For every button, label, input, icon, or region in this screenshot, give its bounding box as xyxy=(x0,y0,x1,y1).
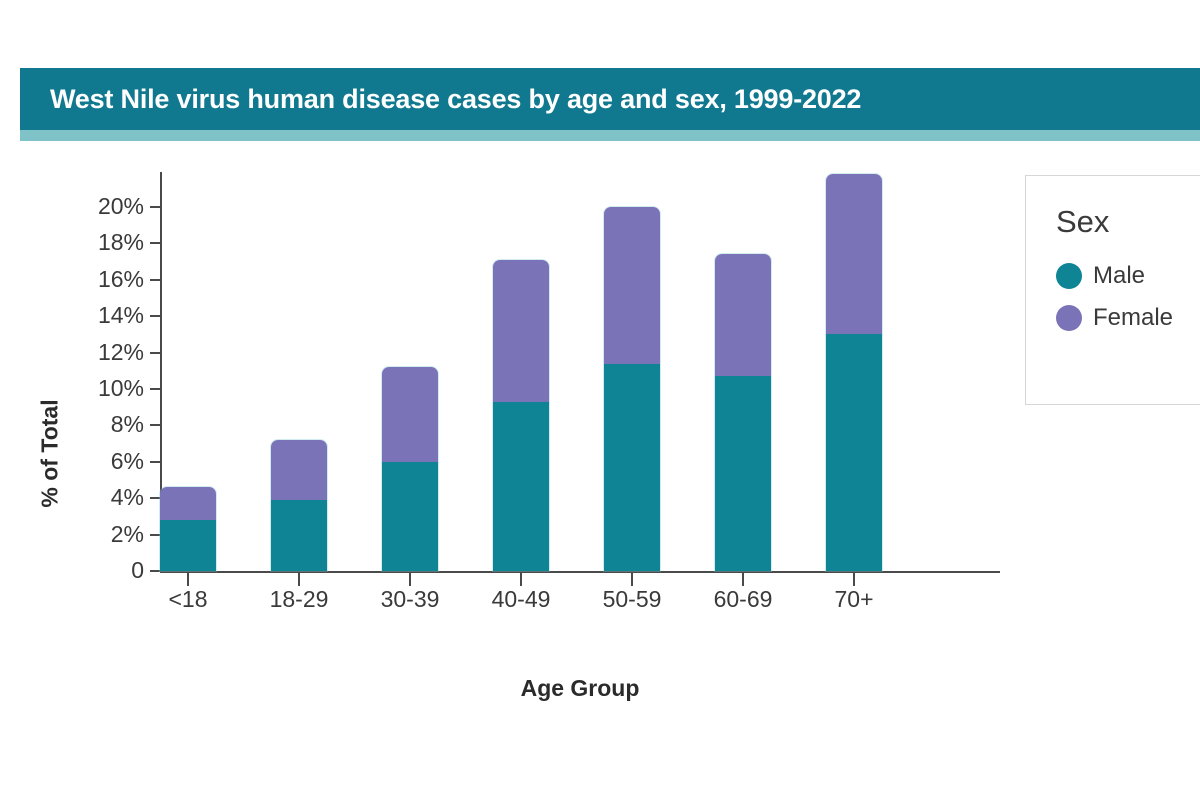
bar-segment-male[interactable] xyxy=(604,364,660,571)
stacked-bar[interactable] xyxy=(160,487,216,571)
legend-title: Sex xyxy=(1056,204,1200,240)
x-axis-line xyxy=(160,571,1000,573)
bar-segment-male[interactable] xyxy=(493,402,549,571)
y-axis-tick-label: 10% xyxy=(24,375,144,402)
x-axis-tick-mark xyxy=(631,573,633,586)
x-axis-tick-mark xyxy=(409,573,411,586)
stacked-bar[interactable] xyxy=(604,207,660,571)
stacked-bar[interactable] xyxy=(826,174,882,571)
bar-segment-male[interactable] xyxy=(271,500,327,571)
y-axis-tick-mark xyxy=(150,279,162,281)
y-axis-tick-mark xyxy=(150,315,162,317)
stacked-bar[interactable] xyxy=(271,440,327,571)
y-axis-tick-mark xyxy=(150,461,162,463)
page-title: West Nile virus human disease cases by a… xyxy=(20,84,861,115)
y-axis-tick-mark xyxy=(150,206,162,208)
stacked-bar[interactable] xyxy=(493,260,549,571)
y-axis-tick-mark xyxy=(150,242,162,244)
y-axis-tick-mark xyxy=(150,352,162,354)
y-axis-tick-label: 8% xyxy=(24,411,144,438)
bar-segment-male[interactable] xyxy=(826,334,882,571)
legend-item-male[interactable]: Male xyxy=(1056,262,1200,290)
y-axis-tick-label: 12% xyxy=(24,339,144,366)
bar-segment-female[interactable] xyxy=(604,207,660,364)
bar-segment-female[interactable] xyxy=(271,440,327,500)
bar-segment-female[interactable] xyxy=(715,254,771,376)
bar-segment-female[interactable] xyxy=(160,487,216,520)
legend-panel: Sex Male Female xyxy=(1025,175,1200,405)
y-axis-tick-label: 6% xyxy=(24,448,144,475)
x-axis-tick-mark xyxy=(520,573,522,586)
bar-segment-female[interactable] xyxy=(382,367,438,462)
bar-segment-male[interactable] xyxy=(382,462,438,571)
y-axis-tick-label: 20% xyxy=(24,193,144,220)
x-axis-tick-mark xyxy=(742,573,744,586)
chart-header-banner: West Nile virus human disease cases by a… xyxy=(20,68,1200,130)
legend-swatch-male-icon xyxy=(1056,263,1082,289)
y-axis-tick-label: 0 xyxy=(24,557,144,584)
y-axis-tick-label: 2% xyxy=(24,521,144,548)
stacked-bar[interactable] xyxy=(715,254,771,571)
bar-segment-female[interactable] xyxy=(493,260,549,402)
chart-plot-area: % of Total Age Group 02%4%6%8%10%12%14%1… xyxy=(0,150,1200,750)
y-axis-tick-label: 18% xyxy=(24,229,144,256)
y-axis-tick-mark xyxy=(150,424,162,426)
x-axis-tick-mark xyxy=(853,573,855,586)
legend-label-female: Female xyxy=(1093,304,1173,332)
legend-label-male: Male xyxy=(1093,262,1145,290)
y-axis-tick-label: 4% xyxy=(24,484,144,511)
x-axis-tick-mark xyxy=(187,573,189,586)
header-underline-strip xyxy=(20,130,1200,141)
x-axis-tick-mark xyxy=(298,573,300,586)
x-axis-title: Age Group xyxy=(420,675,740,702)
stacked-bar[interactable] xyxy=(382,367,438,571)
y-axis-tick-label: 16% xyxy=(24,266,144,293)
legend-swatch-female-icon xyxy=(1056,305,1082,331)
legend-item-female[interactable]: Female xyxy=(1056,304,1200,332)
bar-segment-male[interactable] xyxy=(160,520,216,571)
bar-segment-male[interactable] xyxy=(715,376,771,571)
x-axis-tick-label: 70+ xyxy=(784,586,924,613)
y-axis-tick-label: 14% xyxy=(24,302,144,329)
y-axis-tick-mark xyxy=(150,388,162,390)
bar-segment-female[interactable] xyxy=(826,174,882,334)
